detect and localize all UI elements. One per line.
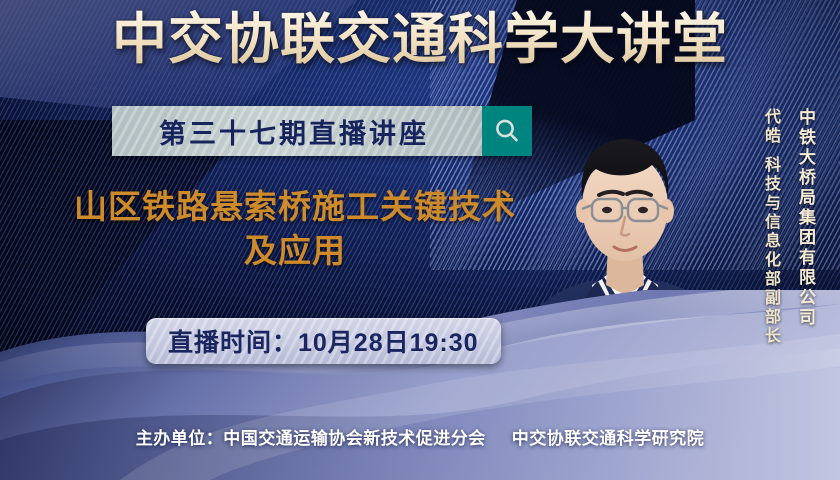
live-lecture-poster: 中交协联交通科学大讲堂 第三十七期直播讲座 山区铁路悬索桥施工关键技术 及应用 … <box>0 0 840 480</box>
page-title: 中交协联交通科学大讲堂 <box>0 8 840 70</box>
organizer-name-1: 中国交通运输协会新技术促进分会 <box>223 429 486 448</box>
speaker-organization: 中铁大桥局集团有限公司 <box>793 108 818 328</box>
speaker-name-and-position: 代皓科技与信息化部副部长 <box>758 108 782 346</box>
episode-banner-fill: 第三十七期直播讲座 <box>112 106 482 156</box>
broadcast-time-badge: 直播时间：10月28日19:30 <box>146 318 501 364</box>
episode-label: 第三十七期直播讲座 <box>159 112 435 151</box>
speaker-position: 科技与信息化部副部长 <box>762 156 779 346</box>
organizers-footer: 主办单位：中国交通运输协会新技术促进分会中交协联交通科学研究院 <box>0 424 840 449</box>
broadcast-time-text: 直播时间：10月28日19:30 <box>168 323 479 359</box>
organizer-label: 主办单位： <box>136 429 224 448</box>
organizer-name-2: 中交协联交通科学研究院 <box>512 429 705 448</box>
search-icon[interactable] <box>482 106 532 156</box>
lecture-title-line2: 及应用 <box>30 229 560 273</box>
episode-banner: 第三十七期直播讲座 <box>112 106 532 156</box>
speaker-name: 代皓 <box>762 108 779 146</box>
lecture-title-line1: 山区铁路悬索桥施工关键技术 <box>30 185 560 229</box>
lecture-title: 山区铁路悬索桥施工关键技术 及应用 <box>30 185 560 273</box>
